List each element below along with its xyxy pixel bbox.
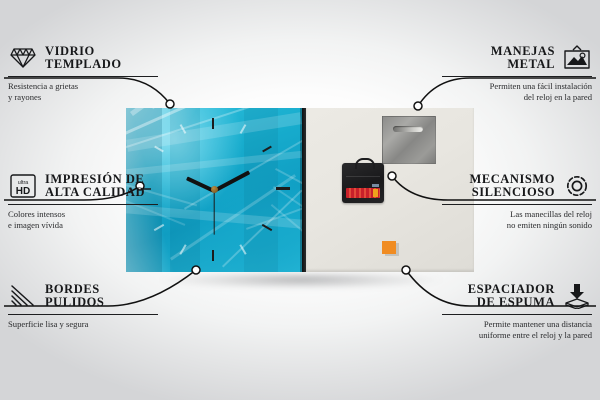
infographic-canvas: VIDRIO TEMPLADO Resistencia a grietas y … — [0, 0, 600, 400]
metal-hanger-plate — [382, 116, 436, 164]
feature-divider — [442, 76, 592, 77]
foam-spacer — [382, 241, 396, 254]
movement-hanging-loop — [355, 158, 375, 169]
product-image — [126, 108, 474, 272]
movement-seam — [346, 176, 380, 177]
feature-espaciador-espuma: ESPACIADOR DE ESPUMA Permite mantener un… — [442, 282, 592, 340]
connector-dot-vidrio-templado — [166, 100, 174, 108]
feature-title: IMPRESIÓN DE ALTA CALIDAD — [45, 173, 145, 200]
feature-description: Resistencia a grietas y rayones — [8, 81, 158, 102]
quartz-movement — [342, 163, 384, 203]
feature-description: Permiten una fácil instalación del reloj… — [442, 81, 592, 102]
foam-spacer-icon — [562, 282, 592, 310]
ultra-hd-icon: ultra HD — [8, 172, 38, 200]
feature-divider — [442, 204, 592, 205]
feature-bordes-pulidos: BORDES PULIDOS Superficie lisa y segura — [8, 282, 158, 330]
polished-edges-icon — [8, 282, 38, 310]
feature-vidrio-templado: VIDRIO TEMPLADO Resistencia a grietas y … — [8, 44, 158, 102]
feature-title: BORDES PULIDOS — [45, 283, 104, 310]
feature-impresion-alta-calidad: ultra HD IMPRESIÓN DE ALTA CALIDAD Color… — [8, 172, 158, 230]
feature-mecanismo-silencioso: MECANISMO SILENCIOSO Las manecillas del … — [442, 172, 592, 230]
gear-icon — [562, 172, 592, 200]
clock-tick — [276, 187, 290, 190]
battery-terminal — [373, 189, 378, 197]
feature-title: VIDRIO TEMPLADO — [45, 45, 122, 72]
feature-title: ESPACIADOR DE ESPUMA — [468, 283, 555, 310]
feature-description: Superficie lisa y segura — [8, 319, 158, 330]
feature-description: Las manecillas del reloj no emiten ningú… — [442, 209, 592, 230]
hanger-slot — [393, 126, 423, 132]
product-drop-shadow — [108, 272, 494, 298]
clock-second-hand — [213, 191, 214, 235]
picture-hanger-icon — [562, 44, 592, 72]
feature-divider — [8, 314, 158, 315]
feature-divider — [8, 204, 158, 205]
clock-tick — [212, 250, 214, 261]
battery — [346, 188, 380, 198]
clock-center-cap — [211, 186, 218, 193]
feature-divider — [442, 314, 592, 315]
clock-tick — [212, 118, 214, 129]
feature-manejas-metal: MANEJAS METAL Permiten una fácil instala… — [442, 44, 592, 102]
feature-title: MECANISMO SILENCIOSO — [469, 173, 555, 200]
svg-text:HD: HD — [16, 186, 30, 197]
movement-label — [372, 184, 379, 187]
feature-description: Colores intensos e imagen vívida — [8, 209, 158, 230]
feature-description: Permite mantener una distancia uniforme … — [442, 319, 592, 340]
feature-title: MANEJAS METAL — [491, 45, 555, 72]
diamond-icon — [8, 44, 38, 72]
feature-divider — [8, 76, 158, 77]
